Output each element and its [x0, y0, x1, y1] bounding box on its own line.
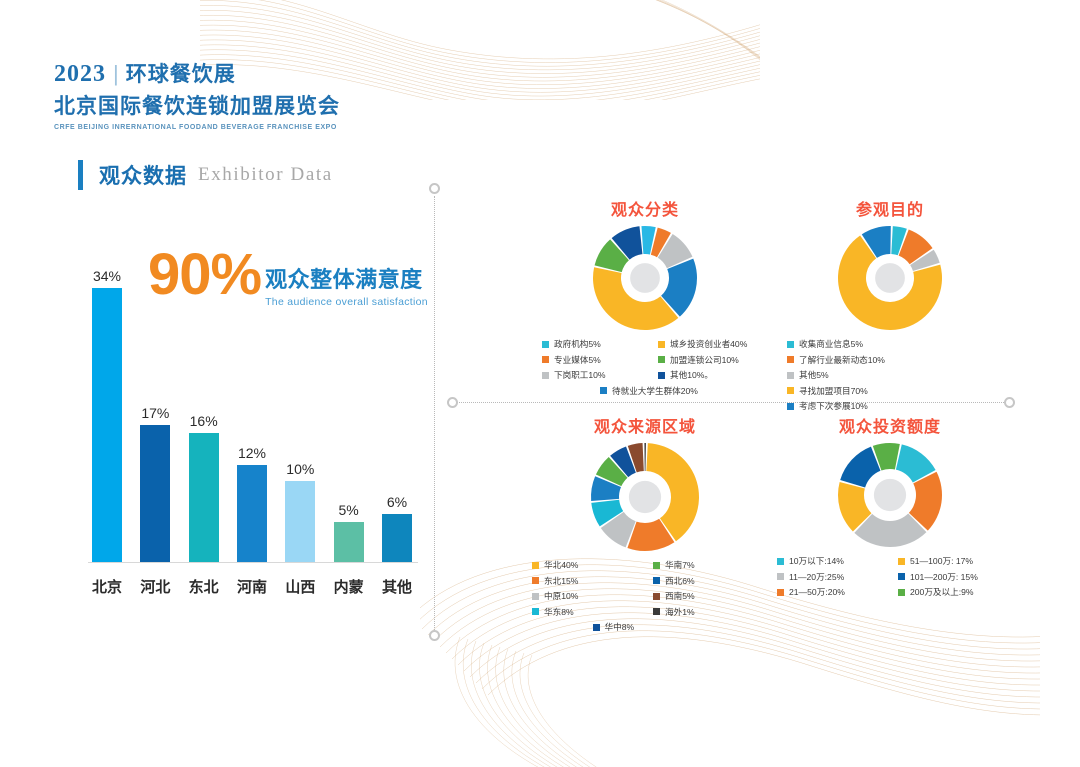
legend-item: 了解行业最新动态10%	[783, 354, 1015, 366]
bar-category-label: 其他	[382, 576, 412, 597]
legend-visit-purpose: 收集商业信息5%了解行业最新动态10%其他5%寻找加盟项目70%考虑下次参展10…	[765, 338, 1015, 416]
bar-value-label: 10%	[286, 461, 314, 477]
legend-label: 10万以下:14%	[789, 555, 844, 567]
bar-value-label: 6%	[387, 494, 407, 510]
legend-swatch	[653, 593, 660, 600]
legend-item: 寻找加盟项目70%	[783, 385, 1015, 397]
legend-item: 11—20万:25%	[773, 571, 894, 583]
donut-svg	[836, 224, 944, 332]
panel-audience-investment: 观众投资额度 10万以下:14%51—100万: 17%11—20万:25%10…	[765, 413, 1015, 613]
donut-audience-origin	[520, 441, 770, 553]
poster-page: 2023 | 环球餐饮展 北京国际餐饮连锁加盟展览会 CRFE BEIJING …	[0, 0, 1080, 737]
legend-swatch	[777, 558, 784, 565]
donut-audience-investment	[765, 441, 1015, 549]
legend-label: 下岗职工10%	[554, 369, 606, 381]
legend-swatch	[653, 577, 660, 584]
donut-slice	[644, 443, 646, 471]
legend-item: 收集商业信息5%	[783, 338, 1015, 350]
panel-title: 参观目的	[765, 196, 1015, 220]
logo-title-cn: 环球餐饮展	[126, 58, 236, 88]
section-heading: 观众数据 Exhibitor Data	[78, 160, 333, 190]
legend-label: 西南5%	[665, 590, 695, 602]
satisfaction-label-en: The audience overall satisfaction	[265, 296, 428, 308]
legend-label: 华北40%	[544, 559, 578, 571]
bar-chart-axis-line	[88, 562, 418, 563]
legend-item: 西北6%	[649, 575, 770, 587]
section-accent-bar	[78, 160, 83, 190]
bar	[140, 425, 170, 562]
legend-swatch	[653, 608, 660, 615]
legend-swatch	[532, 562, 539, 569]
satisfaction-label-cn: 观众整体满意度	[265, 262, 428, 294]
legend-label: 华南7%	[665, 559, 695, 571]
legend-swatch	[653, 562, 660, 569]
donut-hub	[875, 263, 905, 293]
legend-label: 51—100万: 17%	[910, 555, 973, 567]
legend-swatch	[542, 356, 549, 363]
legend-label: 城乡投资创业者40%	[670, 338, 747, 350]
bar-value-label: 5%	[339, 502, 359, 518]
legend-label: 其他10%。	[670, 369, 713, 381]
bar	[237, 465, 267, 562]
section-title-cn: 观众数据	[99, 160, 187, 190]
legend-label: 21—50万:20%	[789, 586, 845, 598]
legend-label: 其他5%	[799, 369, 829, 381]
bar-column: 34%	[92, 262, 122, 562]
connector-node-left	[447, 397, 458, 408]
legend-item: 西南5%	[649, 590, 770, 602]
legend-item: 政府机构5%	[538, 338, 654, 350]
legend-label: 待就业大学生群体20%	[612, 385, 698, 397]
legend-audience-origin: 华北40%华南7%东北15%西北6%中原10%西南5%华东8%海外1%华中8%	[520, 559, 770, 637]
bar	[92, 288, 122, 562]
legend-label: 加盟连锁公司10%	[670, 354, 739, 366]
legend-item: 51—100万: 17%	[894, 555, 1015, 567]
bar-chart-x-labels: 北京河北东北河南山西内蒙其他	[92, 576, 412, 597]
connector-node-bottom	[429, 630, 440, 641]
legend-item: 10万以下:14%	[773, 555, 894, 567]
bar	[189, 433, 219, 562]
bar-category-label: 山西	[285, 576, 315, 597]
donut-hub	[874, 479, 906, 511]
legend-label: 华中8%	[605, 621, 635, 633]
satisfaction-value: 90%	[148, 250, 261, 300]
legend-item: 华北40%	[528, 559, 649, 571]
legend-swatch	[600, 387, 607, 394]
bar-category-label: 内蒙	[334, 576, 364, 597]
bar-value-label: 34%	[93, 268, 121, 284]
legend-swatch	[658, 372, 665, 379]
legend-label: 收集商业信息5%	[799, 338, 863, 350]
legend-swatch	[787, 403, 794, 410]
legend-item: 考虑下次参展10%	[783, 400, 1015, 412]
legend-item: 城乡投资创业者40%	[654, 338, 770, 350]
donut-svg	[836, 441, 944, 549]
legend-swatch	[532, 577, 539, 584]
panel-title: 观众来源区域	[520, 413, 770, 437]
legend-item: 华东8%	[528, 606, 649, 618]
panel-audience-category: 观众分类 政府机构5%城乡投资创业者40%专业媒体5%加盟连锁公司10%下岗职工…	[520, 196, 770, 391]
bar	[382, 514, 412, 562]
bar-category-label: 北京	[92, 576, 122, 597]
legend-label: 华东8%	[544, 606, 574, 618]
bar-category-label: 河南	[237, 576, 267, 597]
donut-hub	[629, 481, 661, 513]
legend-item: 华南7%	[649, 559, 770, 571]
legend-item: 200万及以上:9%	[894, 586, 1015, 598]
legend-swatch	[787, 372, 794, 379]
legend-audience-category: 政府机构5%城乡投资创业者40%专业媒体5%加盟连锁公司10%下岗职工10%其他…	[520, 338, 770, 400]
legend-item: 海外1%	[649, 606, 770, 618]
legend-item: 21—50万:20%	[773, 586, 894, 598]
legend-swatch	[898, 573, 905, 580]
legend-label: 海外1%	[665, 606, 695, 618]
legend-label: 200万及以上:9%	[910, 586, 974, 598]
legend-label: 寻找加盟项目70%	[799, 385, 868, 397]
legend-item: 其他10%。	[654, 369, 770, 381]
legend-item: 其他5%	[783, 369, 1015, 381]
donut-audience-category	[520, 224, 770, 332]
event-logo: 2023 | 环球餐饮展 北京国际餐饮连锁加盟展览会 CRFE BEIJING …	[54, 58, 340, 131]
legend-label: 中原10%	[544, 590, 578, 602]
legend-swatch	[542, 341, 549, 348]
legend-label: 东北15%	[544, 575, 578, 587]
legend-label: 考虑下次参展10%	[799, 400, 868, 412]
donut-hub	[630, 263, 660, 293]
legend-item: 待就业大学生群体20%	[596, 385, 712, 397]
legend-swatch	[787, 356, 794, 363]
donut-svg	[589, 441, 701, 553]
bar-category-label: 河北	[140, 576, 170, 597]
legend-swatch	[593, 624, 600, 631]
legend-label: 了解行业最新动态10%	[799, 354, 885, 366]
legend-item: 下岗职工10%	[538, 369, 654, 381]
panel-visit-purpose: 参观目的 收集商业信息5%了解行业最新动态10%其他5%寻找加盟项目70%考虑下…	[765, 196, 1015, 391]
section-title-en: Exhibitor Data	[198, 164, 333, 186]
logo-year: 2023	[54, 61, 106, 88]
panel-title: 观众投资额度	[765, 413, 1015, 437]
bar	[334, 522, 364, 562]
logo-subtitle-en: CRFE BEIJING INRERNATIONAL FOODAND BEVER…	[54, 124, 340, 131]
legend-swatch	[658, 341, 665, 348]
connector-line-vertical	[434, 196, 435, 636]
bar	[285, 481, 315, 562]
legend-swatch	[532, 593, 539, 600]
legend-item: 东北15%	[528, 575, 649, 587]
legend-swatch	[532, 608, 539, 615]
bar-value-label: 17%	[141, 405, 169, 421]
legend-label: 西北6%	[665, 575, 695, 587]
donut-slice	[840, 447, 880, 488]
connector-node-top	[429, 183, 440, 194]
legend-item: 101—200万: 15%	[894, 571, 1015, 583]
legend-swatch	[777, 573, 784, 580]
logo-subtitle-cn: 北京国际餐饮连锁加盟展览会	[54, 90, 340, 120]
donut-svg	[591, 224, 699, 332]
legend-swatch	[898, 558, 905, 565]
legend-swatch	[898, 589, 905, 596]
legend-swatch	[777, 589, 784, 596]
bar-category-label: 东北	[189, 576, 219, 597]
legend-item: 加盟连锁公司10%	[654, 354, 770, 366]
legend-swatch	[787, 387, 794, 394]
logo-separator: |	[113, 61, 119, 87]
legend-label: 101—200万: 15%	[910, 571, 978, 583]
legend-swatch	[787, 341, 794, 348]
legend-label: 11—20万:25%	[789, 571, 844, 583]
legend-audience-investment: 10万以下:14%51—100万: 17%11—20万:25%101—200万:…	[765, 555, 1015, 602]
legend-swatch	[542, 372, 549, 379]
satisfaction-callout: 90% 观众整体满意度 The audience overall satisfa…	[148, 250, 428, 308]
legend-label: 专业媒体5%	[554, 354, 601, 366]
legend-label: 政府机构5%	[554, 338, 601, 350]
panel-audience-origin: 观众来源区域 华北40%华南7%东北15%西北6%中原10%西南5%华东8%海外…	[520, 413, 770, 613]
legend-item: 中原10%	[528, 590, 649, 602]
panel-title: 观众分类	[520, 196, 770, 220]
legend-item: 专业媒体5%	[538, 354, 654, 366]
bar-value-label: 12%	[238, 445, 266, 461]
bar-value-label: 16%	[190, 413, 218, 429]
legend-swatch	[658, 356, 665, 363]
donut-visit-purpose	[765, 224, 1015, 332]
legend-item: 华中8%	[589, 621, 710, 633]
